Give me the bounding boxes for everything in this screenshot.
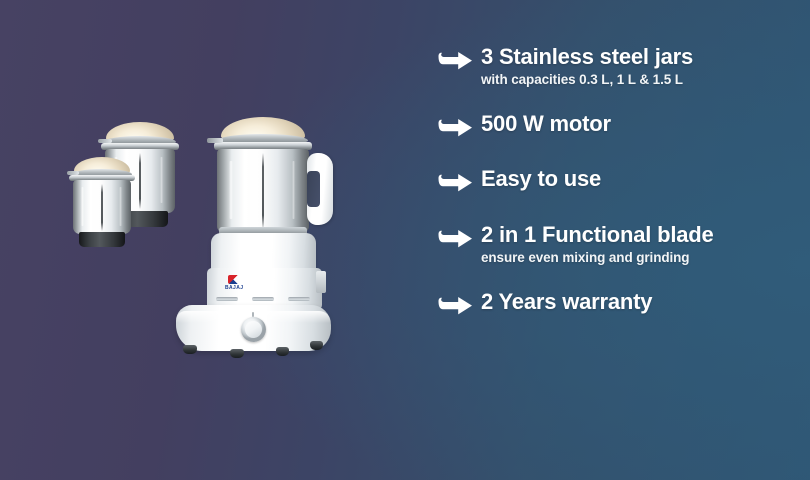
feature-title: Easy to use (481, 166, 793, 191)
feature-title: 2 in 1 Functional blade (481, 222, 793, 247)
control-knob-cap (245, 321, 262, 338)
base-foot (276, 347, 289, 356)
bajaj-logo-mark (228, 275, 239, 284)
feature-item: 2 Years warranty (437, 289, 793, 316)
feature-item: 3 Stainless steel jars with capacities 0… (437, 44, 793, 88)
promo-banner: BAJAJ Classic (0, 0, 810, 480)
right-swoosh-arrow-icon (437, 222, 481, 249)
feature-title: 2 Years warranty (481, 289, 793, 314)
bajaj-logo-text: BAJAJ (225, 285, 243, 291)
feature-list: 3 Stainless steel jars with capacities 0… (437, 44, 793, 316)
feature-item: 2 in 1 Functional blade ensure even mixi… (437, 222, 793, 266)
base-foot (183, 345, 197, 354)
feature-title: 3 Stainless steel jars (481, 44, 793, 69)
base-foot (230, 349, 244, 358)
right-swoosh-arrow-icon (437, 111, 481, 138)
right-swoosh-arrow-icon (437, 166, 481, 193)
knob-indicator (252, 312, 254, 317)
right-swoosh-arrow-icon (437, 44, 481, 71)
base-foot (310, 341, 323, 350)
feature-item: Easy to use (437, 166, 793, 193)
feature-item: 500 W motor (437, 111, 793, 138)
feature-subtitle: ensure even mixing and grinding (481, 250, 793, 266)
right-swoosh-arrow-icon (437, 289, 481, 316)
product-image: BAJAJ Classic (60, 105, 390, 385)
feature-title: 500 W motor (481, 111, 793, 136)
feature-subtitle: with capacities 0.3 L, 1 L & 1.5 L (481, 72, 793, 88)
